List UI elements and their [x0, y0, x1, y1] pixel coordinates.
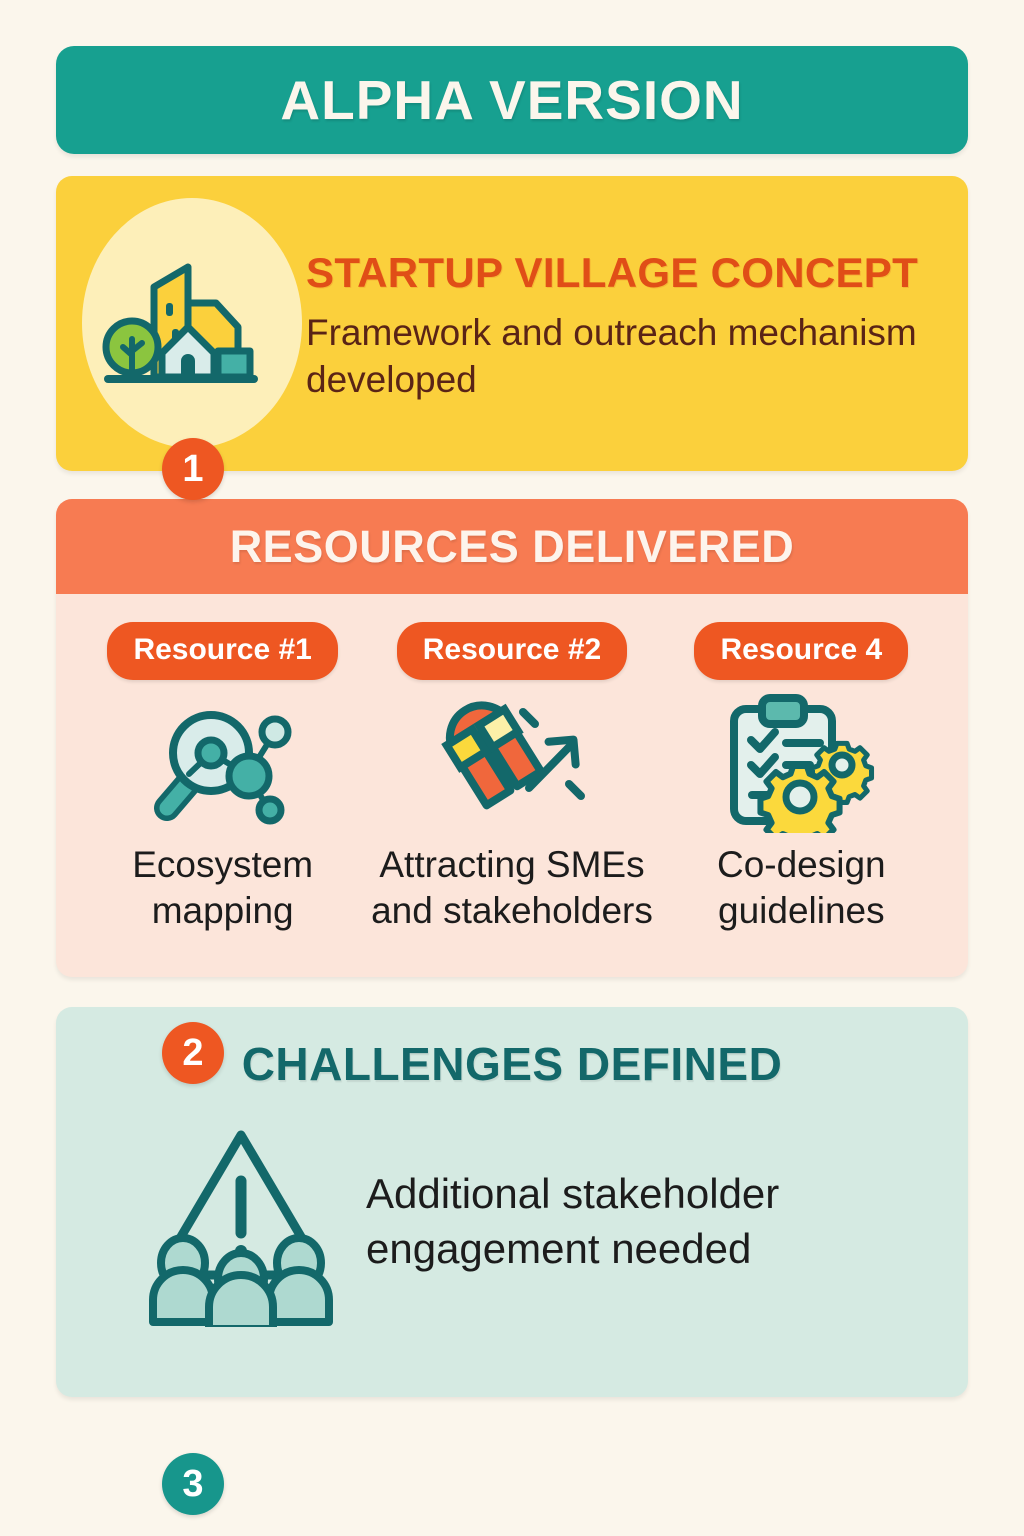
resource-pill-3[interactable]: Resource 4	[694, 622, 908, 680]
resources-header: RESOURCES DELIVERED	[56, 499, 968, 594]
concept-body-text: Framework and outreach mechanism develop…	[306, 310, 928, 404]
infographic-poster: ALPHA VERSION	[0, 0, 1024, 1536]
concept-heading: STARTUP VILLAGE CONCEPT	[306, 249, 928, 297]
resource-pill-1[interactable]: Resource #1	[107, 622, 337, 680]
startup-village-concept-card: STARTUP VILLAGE CONCEPT Framework and ou…	[56, 176, 968, 471]
resources-header-title: RESOURCES DELIVERED	[230, 521, 795, 573]
step-badge-2: 2	[162, 1022, 224, 1084]
step-badge-1: 1	[162, 438, 224, 500]
alpha-version-banner: ALPHA VERSION	[56, 46, 968, 154]
resources-columns: Resource #1	[56, 594, 968, 977]
banner-title: ALPHA VERSION	[280, 68, 743, 132]
resource-column-2: Resource #2 Attracting SMEs a	[367, 622, 656, 933]
resource-column-1: Resource #1	[78, 622, 367, 933]
concept-text-block: STARTUP VILLAGE CONCEPT Framework and ou…	[306, 243, 968, 405]
concept-icon-container	[56, 176, 306, 471]
resource-label-2: Attracting SMEs and stakeholders	[367, 842, 656, 933]
warning-people-icon	[116, 1117, 366, 1327]
challenges-row: Additional stakeholder engagement needed	[56, 1117, 968, 1327]
magnifier-network-icon	[133, 688, 313, 838]
step-badge-3: 3	[162, 1453, 224, 1515]
village-buildings-icon	[92, 241, 270, 406]
resource-label-1: Ecosystem mapping	[78, 842, 367, 933]
resource-column-3: Resource 4	[657, 622, 946, 933]
resource-label-3: Co-design guidelines	[657, 842, 946, 933]
magnet-arrow-icon	[429, 688, 594, 838]
resource-pill-2[interactable]: Resource #2	[397, 622, 627, 680]
clipboard-gears-icon	[716, 688, 886, 838]
resources-delivered-card: RESOURCES DELIVERED Resource #1	[56, 499, 968, 977]
challenges-body-text: Additional stakeholder engagement needed	[366, 1167, 934, 1276]
